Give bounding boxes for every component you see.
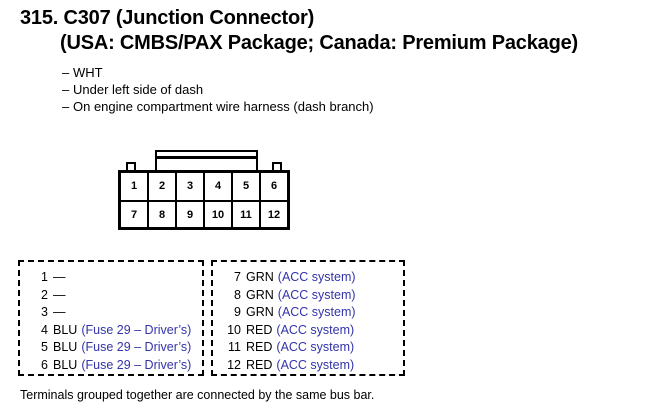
terminal-wire-color: BLU bbox=[53, 339, 77, 357]
terminal-pin-number: 9 bbox=[223, 304, 241, 322]
terminal-wire-color: GRN bbox=[246, 269, 274, 287]
terminal-wire-color: RED bbox=[246, 357, 272, 375]
terminal-row: 10RED(ACC system) bbox=[213, 322, 403, 340]
connector-latch-rib bbox=[157, 156, 256, 159]
page-title-line-2: (USA: CMBS/PAX Package; Canada: Premium … bbox=[20, 31, 670, 56]
pin-cell-6: 6 bbox=[261, 173, 287, 200]
terminal-circuit-note: (Fuse 29 – Driver’s) bbox=[81, 339, 191, 357]
terminal-row: 11RED(ACC system) bbox=[213, 339, 403, 357]
pin-cell-8: 8 bbox=[149, 202, 177, 229]
list-item: –On engine compartment wire harness (das… bbox=[62, 98, 374, 115]
terminal-row: 6BLU(Fuse 29 – Driver’s) bbox=[20, 357, 202, 375]
terminal-pin-number: 4 bbox=[30, 322, 48, 340]
pin-cell-3: 3 bbox=[177, 173, 205, 200]
dash-icon: – bbox=[62, 64, 73, 81]
list-item: –WHT bbox=[62, 64, 374, 81]
page-title-line-1: 315. C307 (Junction Connector) bbox=[20, 6, 670, 31]
terminal-row: 3— bbox=[20, 304, 202, 322]
terminal-row: 9GRN(ACC system) bbox=[213, 304, 403, 322]
dash-icon: – bbox=[62, 98, 73, 115]
terminal-row: 12RED(ACC system) bbox=[213, 357, 403, 375]
list-item: –Under left side of dash bbox=[62, 81, 374, 98]
terminal-row: 4BLU(Fuse 29 – Driver’s) bbox=[20, 322, 202, 340]
bus-bar-note: Terminals grouped together are connected… bbox=[20, 388, 374, 402]
connector-diagram: 1 2 3 4 5 6 7 8 9 10 11 12 bbox=[118, 150, 292, 232]
terminal-circuit-note: (ACC system) bbox=[276, 322, 354, 340]
terminal-pin-number: 12 bbox=[223, 357, 241, 375]
connector-pin-grid: 1 2 3 4 5 6 7 8 9 10 11 12 bbox=[118, 170, 290, 230]
list-item-label: WHT bbox=[73, 65, 103, 80]
list-item-label: On engine compartment wire harness (dash… bbox=[73, 99, 374, 114]
terminal-wire-color: BLU bbox=[53, 357, 77, 375]
terminal-row: 2— bbox=[20, 287, 202, 305]
terminal-wire-color: — bbox=[53, 287, 66, 305]
connector-description-list: –WHT –Under left side of dash –On engine… bbox=[62, 64, 374, 115]
pin-row-top: 1 2 3 4 5 6 bbox=[121, 173, 287, 202]
pin-cell-2: 2 bbox=[149, 173, 177, 200]
terminal-circuit-note: (ACC system) bbox=[278, 304, 356, 322]
terminal-circuit-note: (ACC system) bbox=[276, 339, 354, 357]
dash-icon: – bbox=[62, 81, 73, 98]
terminal-pin-number: 2 bbox=[30, 287, 48, 305]
terminal-circuit-note: (ACC system) bbox=[278, 269, 356, 287]
terminal-wire-color: — bbox=[53, 304, 66, 322]
pin-cell-7: 7 bbox=[121, 202, 149, 229]
pin-cell-1: 1 bbox=[121, 173, 149, 200]
terminal-row: 5BLU(Fuse 29 – Driver’s) bbox=[20, 339, 202, 357]
terminal-wire-color: RED bbox=[246, 322, 272, 340]
terminal-row: 1— bbox=[20, 269, 202, 287]
list-item-label: Under left side of dash bbox=[73, 82, 203, 97]
connector-latch-bar bbox=[155, 150, 258, 172]
terminal-pin-number: 5 bbox=[30, 339, 48, 357]
terminal-wire-color: GRN bbox=[246, 304, 274, 322]
terminal-pin-number: 8 bbox=[223, 287, 241, 305]
pin-cell-12: 12 bbox=[261, 202, 287, 229]
pin-cell-5: 5 bbox=[233, 173, 261, 200]
terminal-pin-number: 10 bbox=[223, 322, 241, 340]
terminal-circuit-note: (ACC system) bbox=[276, 357, 354, 375]
terminal-group-left: 1— 2— 3— 4BLU(Fuse 29 – Driver’s) 5BLU(F… bbox=[18, 260, 204, 376]
terminal-pin-number: 6 bbox=[30, 357, 48, 375]
terminal-circuit-note: (Fuse 29 – Driver’s) bbox=[81, 322, 191, 340]
pin-cell-4: 4 bbox=[205, 173, 233, 200]
terminal-wire-color: — bbox=[53, 269, 66, 287]
terminal-circuit-note: (Fuse 29 – Driver’s) bbox=[81, 357, 191, 375]
pin-cell-10: 10 bbox=[205, 202, 233, 229]
terminal-pin-number: 1 bbox=[30, 269, 48, 287]
terminal-pin-number: 7 bbox=[223, 269, 241, 287]
pin-cell-9: 9 bbox=[177, 202, 205, 229]
terminal-row: 8GRN(ACC system) bbox=[213, 287, 403, 305]
terminal-pin-number: 11 bbox=[223, 339, 241, 357]
terminal-wire-color: RED bbox=[246, 339, 272, 357]
terminal-pin-number: 3 bbox=[30, 304, 48, 322]
terminal-wire-color: GRN bbox=[246, 287, 274, 305]
pin-row-bottom: 7 8 9 10 11 12 bbox=[121, 202, 287, 229]
page-header: 315. C307 (Junction Connector) (USA: CMB… bbox=[20, 6, 670, 56]
terminal-wire-color: BLU bbox=[53, 322, 77, 340]
terminal-group-right: 7GRN(ACC system) 8GRN(ACC system) 9GRN(A… bbox=[211, 260, 405, 376]
terminal-row: 7GRN(ACC system) bbox=[213, 269, 403, 287]
terminal-circuit-note: (ACC system) bbox=[278, 287, 356, 305]
pin-cell-11: 11 bbox=[233, 202, 261, 229]
